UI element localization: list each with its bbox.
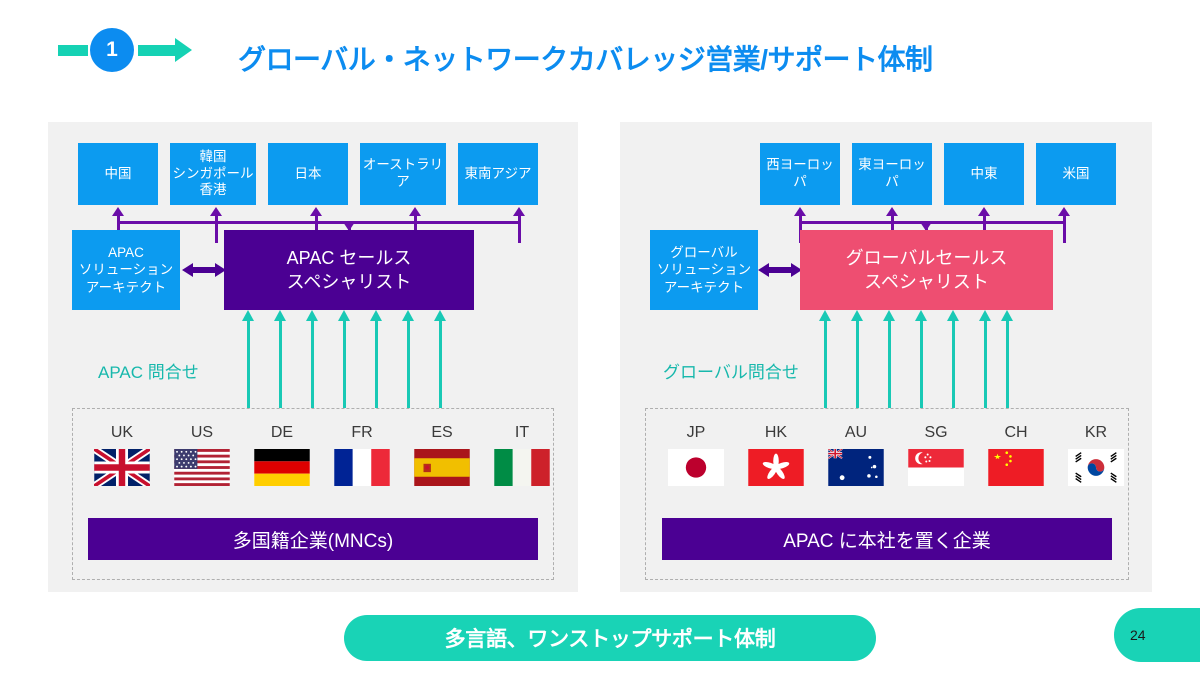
region-box-left-4: 東南アジア bbox=[458, 143, 538, 205]
page-number-badge: 24 bbox=[1114, 608, 1200, 662]
title-marker-bar bbox=[58, 45, 88, 56]
flag-cell-left-de: DE bbox=[242, 424, 322, 486]
apac-headquartered-companies-bar: APAC に本社を置く企業 bbox=[662, 518, 1112, 560]
flag-cell-left-fr: FR bbox=[322, 424, 402, 486]
flag-code-label: UK bbox=[111, 424, 133, 442]
flag-code-label: HK bbox=[765, 424, 787, 442]
region-box-left-2: 日本 bbox=[268, 143, 348, 205]
flag-code-label: FR bbox=[351, 424, 372, 442]
region-box-right-3: 米国 bbox=[1036, 143, 1116, 205]
right-flag-row: JP HK AU SG CH bbox=[656, 424, 1136, 486]
flag-code-label: AU bbox=[845, 424, 867, 442]
global-inquiry-label: グローバル問合せ bbox=[663, 358, 799, 383]
multinational-companies-bar: 多国籍企業(MNCs) bbox=[88, 518, 538, 560]
title-marker-number-circle: 1 bbox=[90, 28, 134, 72]
singapore-flag bbox=[908, 449, 964, 486]
apac-inquiry-label: APAC 問合せ bbox=[98, 358, 199, 383]
spain-flag bbox=[414, 449, 470, 486]
flag-code-label: US bbox=[191, 424, 213, 442]
region-box-left-1: 韓国シンガポール香港 bbox=[170, 143, 256, 205]
title-marker-arrow-icon bbox=[138, 45, 176, 56]
italy-flag bbox=[494, 449, 550, 486]
region-box-right-1: 東ヨーロッパ bbox=[852, 143, 932, 205]
left-region-box-row: 中国韓国シンガポール香港日本オーストラリア東南アジア bbox=[78, 143, 538, 205]
france-flag bbox=[334, 449, 390, 486]
united-kingdom-flag bbox=[94, 449, 150, 486]
flag-code-label: IT bbox=[515, 424, 529, 442]
left-flag-row: UK US DE FR ES bbox=[82, 424, 562, 486]
flag-code-label: SG bbox=[924, 424, 947, 442]
right-region-box-row: 西ヨーロッパ東ヨーロッパ中東米国 bbox=[760, 143, 1116, 205]
apac-sales-specialist-box: APAC セールススペシャリスト bbox=[224, 230, 474, 310]
flag-code-label: DE bbox=[271, 424, 293, 442]
region-box-right-0: 西ヨーロッパ bbox=[760, 143, 840, 205]
flag-cell-right-ch: CH bbox=[976, 424, 1056, 486]
flag-cell-left-it: IT bbox=[482, 424, 562, 486]
south-korea-flag bbox=[1068, 449, 1124, 486]
global-solution-architect-box: グローバルソリューションアーキテクト bbox=[650, 230, 758, 310]
global-sales-specialist-box: グローバルセールススペシャリスト bbox=[800, 230, 1053, 310]
flag-cell-left-us: US bbox=[162, 424, 242, 486]
hong-kong-flag bbox=[748, 449, 804, 486]
united-states-flag bbox=[174, 449, 230, 486]
footer-banner: 多言語、ワンストップサポート体制 bbox=[344, 615, 876, 661]
flag-code-label: KR bbox=[1085, 424, 1107, 442]
left-bidirectional-arrow-icon bbox=[182, 263, 226, 277]
japan-flag bbox=[668, 449, 724, 486]
slide-canvas: 1 グローバル・ネットワークカバレッジ営業/サポート体制 中国韓国シンガポール香… bbox=[0, 0, 1200, 675]
flag-cell-right-kr: KR bbox=[1056, 424, 1136, 486]
region-box-left-3: オーストラリア bbox=[360, 143, 446, 205]
flag-code-label: JP bbox=[687, 424, 706, 442]
germany-flag bbox=[254, 449, 310, 486]
flag-cell-right-jp: JP bbox=[656, 424, 736, 486]
region-box-left-0: 中国 bbox=[78, 143, 158, 205]
australia-flag bbox=[828, 449, 884, 486]
flag-code-label: ES bbox=[431, 424, 452, 442]
flag-code-label: CH bbox=[1004, 424, 1027, 442]
slide-title-row: 1 bbox=[58, 28, 176, 72]
flag-cell-left-es: ES bbox=[402, 424, 482, 486]
flag-cell-right-au: AU bbox=[816, 424, 896, 486]
region-box-right-2: 中東 bbox=[944, 143, 1024, 205]
apac-solution-architect-box: APACソリューションアーキテクト bbox=[72, 230, 180, 310]
page-title: グローバル・ネットワークカバレッジ営業/サポート体制 bbox=[238, 38, 933, 78]
china-flag bbox=[988, 449, 1044, 486]
flag-cell-right-hk: HK bbox=[736, 424, 816, 486]
right-bidirectional-arrow-icon bbox=[758, 263, 802, 277]
flag-cell-left-uk: UK bbox=[82, 424, 162, 486]
flag-cell-right-sg: SG bbox=[896, 424, 976, 486]
